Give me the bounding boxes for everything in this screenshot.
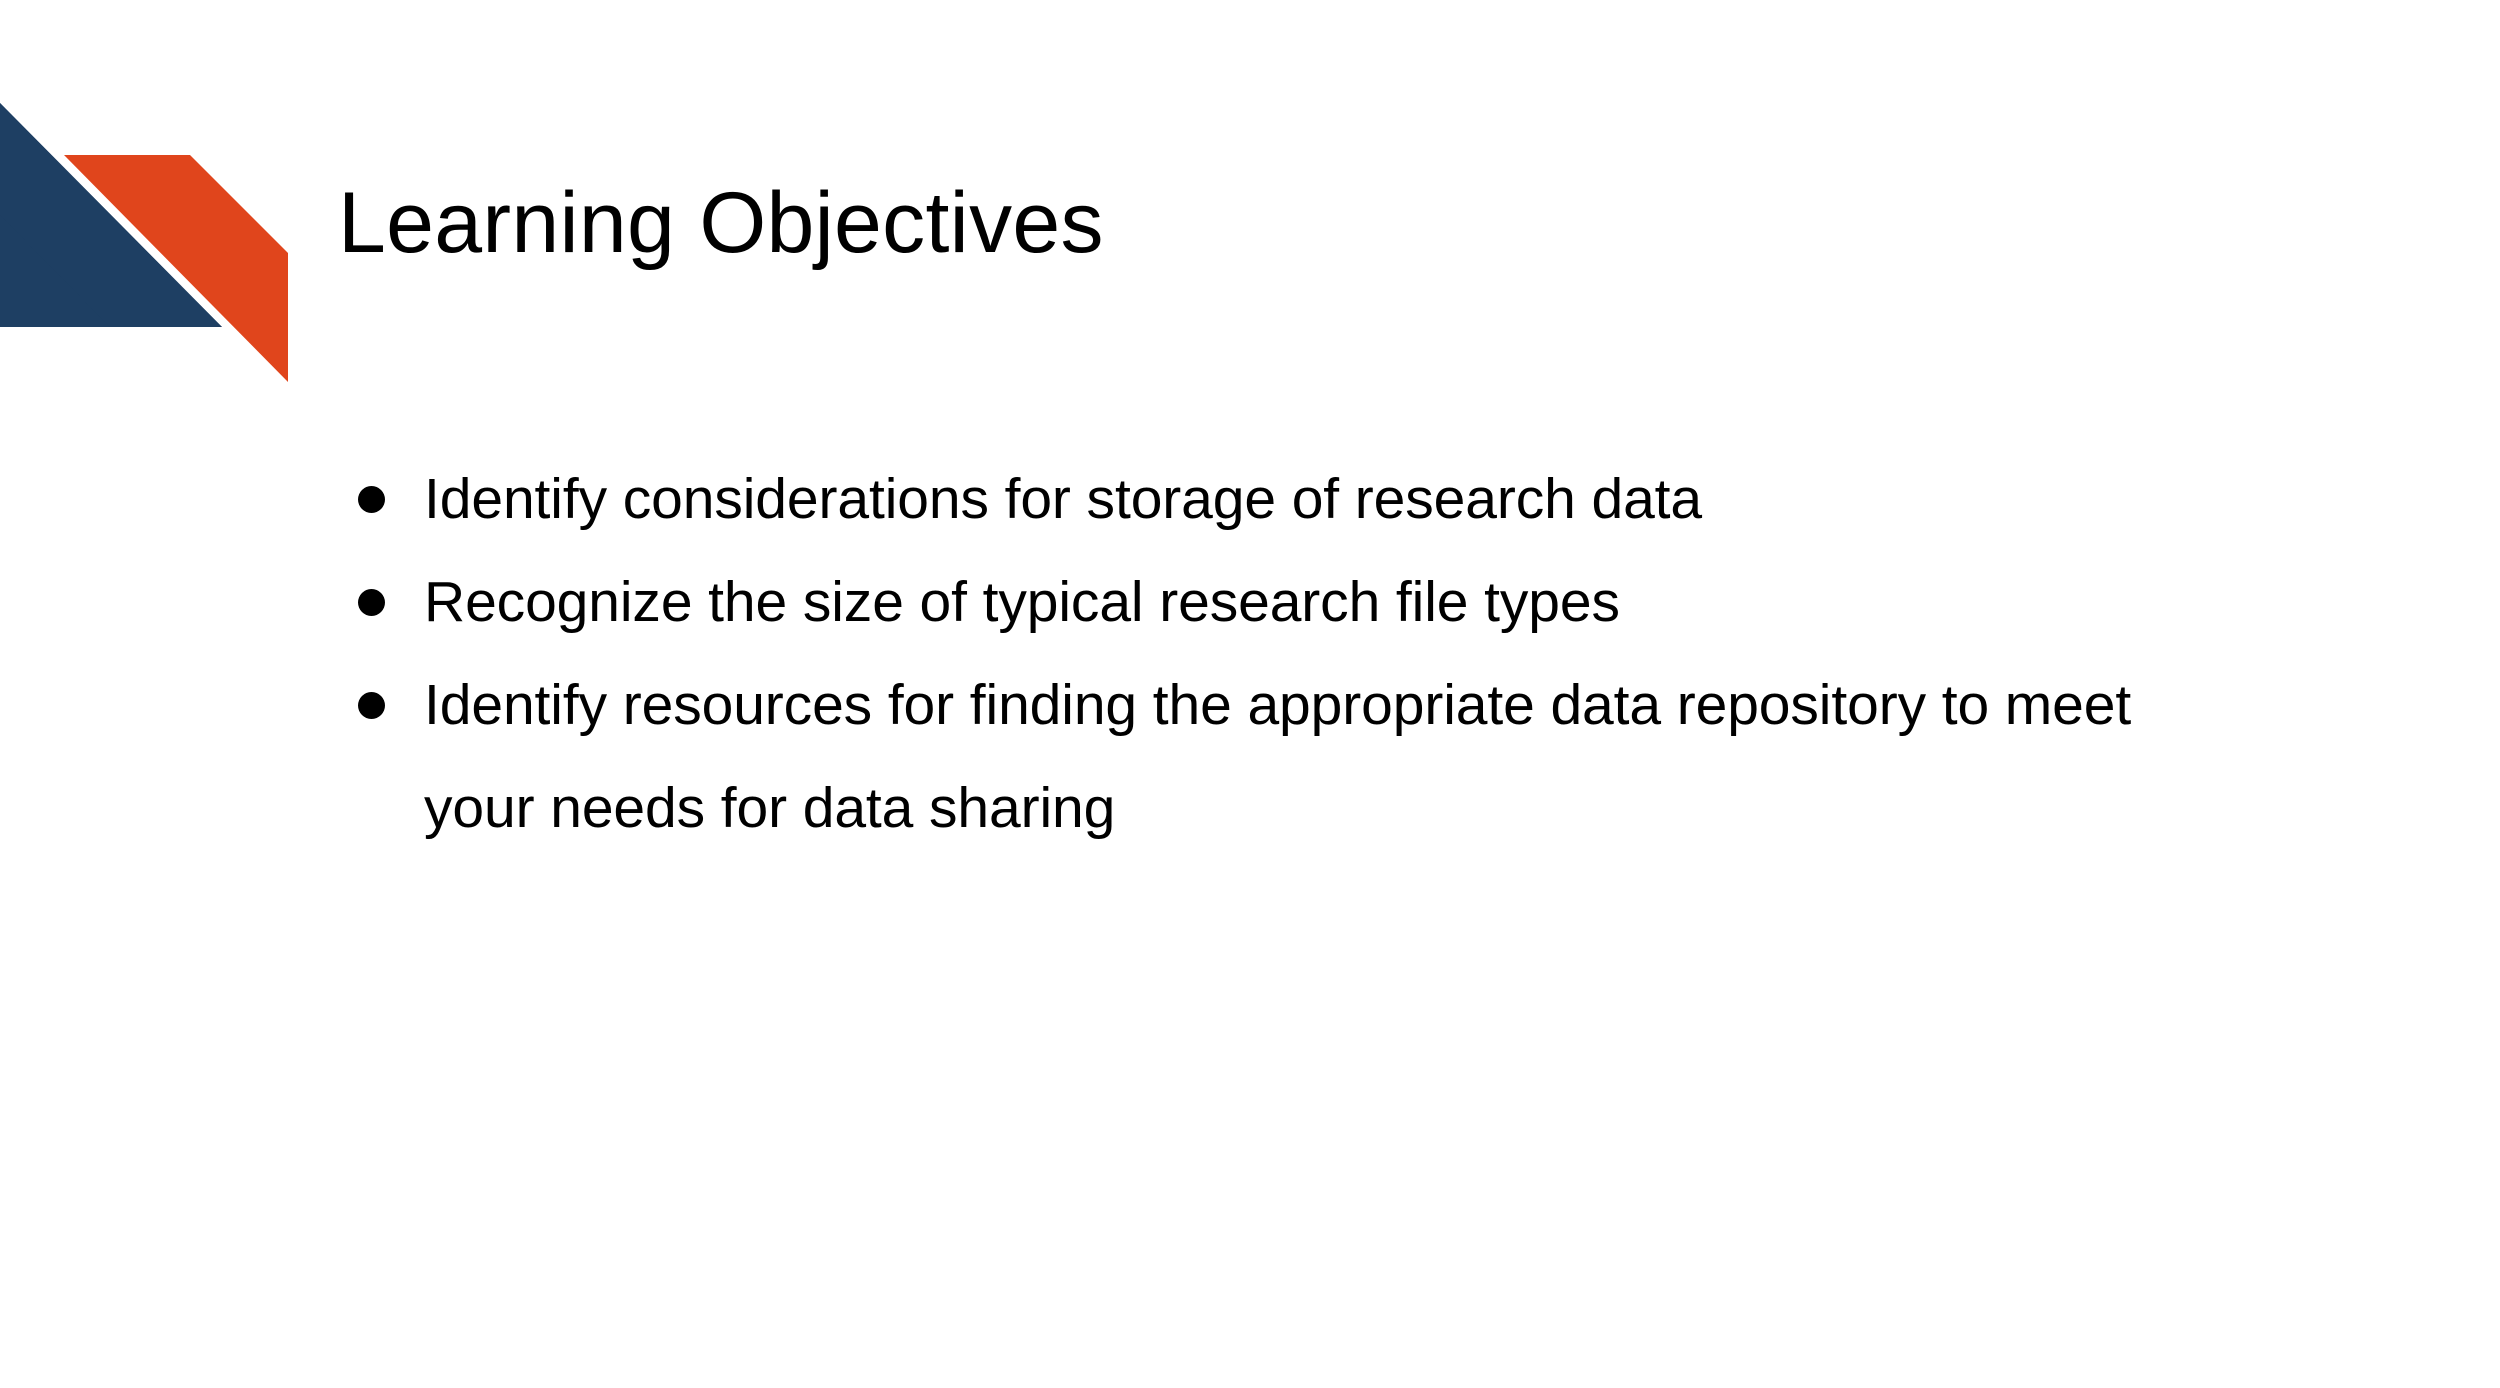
navy-diagonal-band [0, 103, 222, 327]
slide-canvas: Learning Objectives Identify considerati… [0, 0, 2500, 1388]
list-item-text: Identify resources for finding the appro… [424, 654, 2252, 860]
list-item-text: Recognize the size of typical research f… [424, 551, 2252, 654]
page-title: Learning Objectives [338, 173, 1104, 274]
orange-diagonal-band [64, 155, 288, 382]
navy-diagonal-band-upper [0, 103, 222, 327]
list-item: Identify resources for finding the appro… [352, 654, 2252, 860]
corner-decoration-graphic [0, 0, 300, 400]
learning-objectives-list: Identify considerations for storage of r… [352, 448, 2252, 860]
bullet-dot-icon [358, 486, 385, 513]
bullet-dot-icon [358, 692, 385, 719]
bullet-dot-icon [358, 589, 385, 616]
list-item: Recognize the size of typical research f… [352, 551, 2252, 654]
list-item-text: Identify considerations for storage of r… [424, 448, 2252, 551]
list-item: Identify considerations for storage of r… [352, 448, 2252, 551]
